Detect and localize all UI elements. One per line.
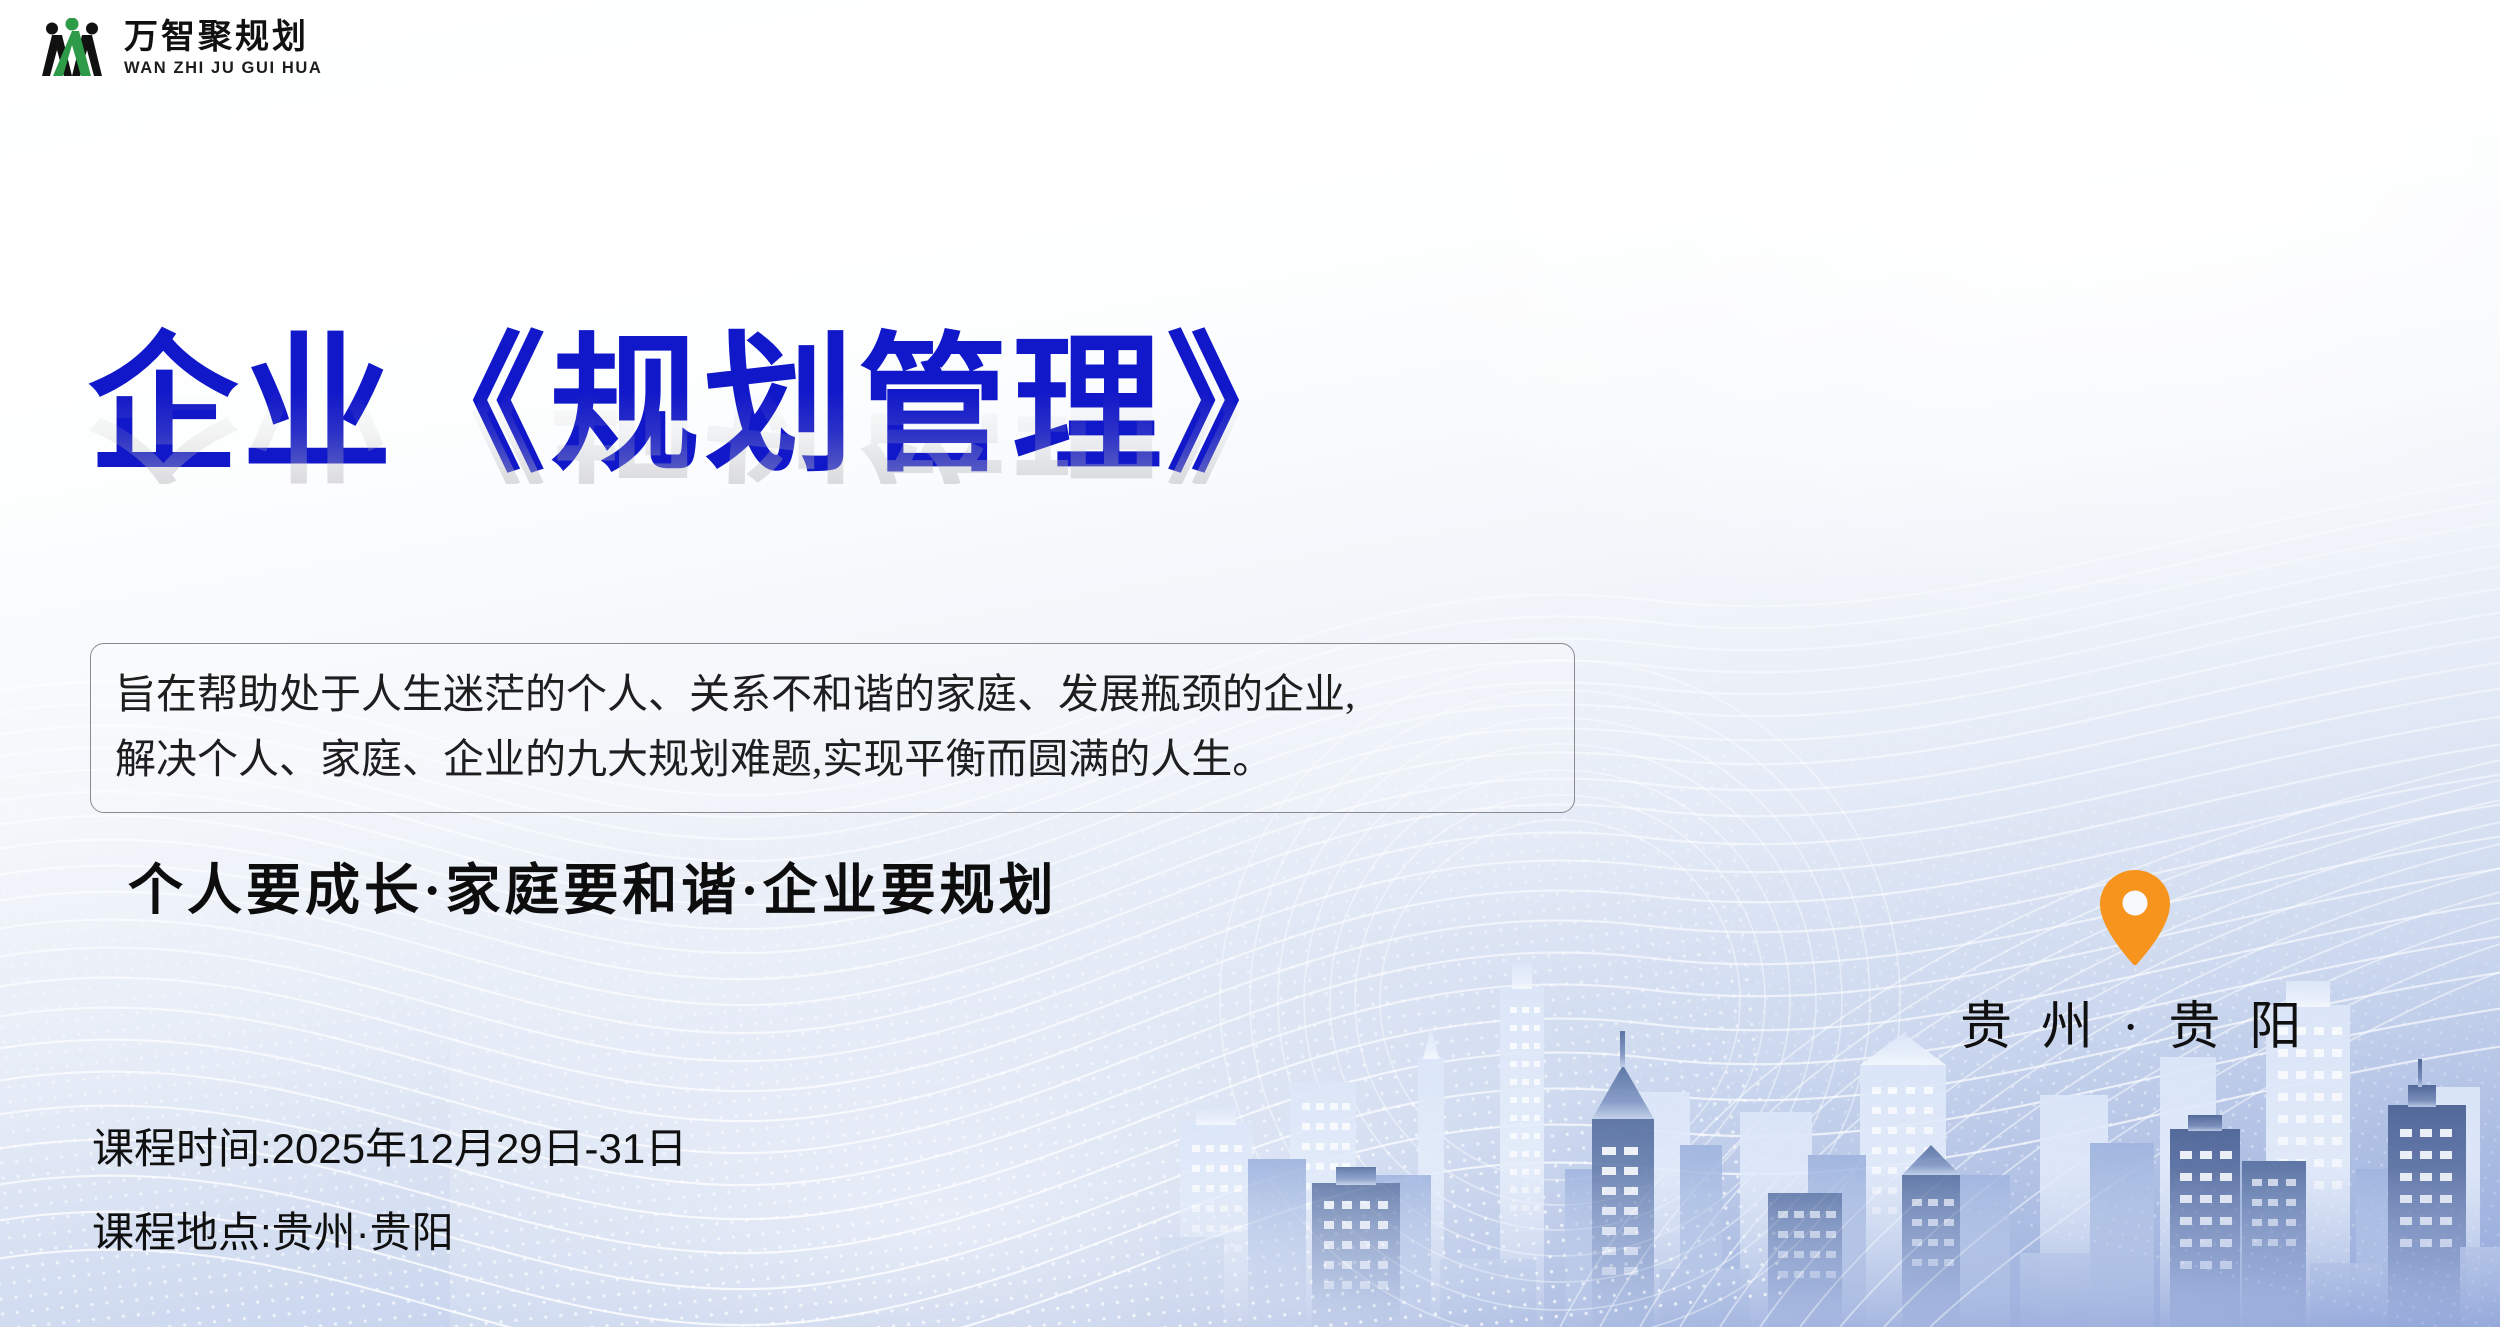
page-title-reflection: 企业《规划管理》 [88, 364, 1320, 484]
brand-name-en: WAN ZHI JU GUI HUA [124, 59, 322, 78]
brand-text: 万智聚规划 WAN ZHI JU GUI HUA [124, 20, 322, 78]
course-place-row: 课程地点:贵州·贵阳 [92, 1212, 687, 1254]
course-time-row: 课程时间:2025年12月29日-31日 [92, 1128, 687, 1170]
poster-canvas: 万智聚规划 WAN ZHI JU GUI HUA 企业《规划管理》 企业《规划管… [0, 0, 2500, 1327]
description-line-2: 解决个人、家庭、企业的九大规划难题,实现平衡而圆满的人生。 [115, 727, 1550, 792]
tagline: 个人要成长·家庭要和谐·企业要规划 [128, 845, 1058, 925]
location-label: 贵 州 · 贵 阳 [1960, 984, 2309, 1059]
three-people-logo-icon [36, 18, 108, 80]
brand-logo[interactable]: 万智聚规划 WAN ZHI JU GUI HUA [36, 18, 322, 80]
brand-name-cn: 万智聚规划 [124, 20, 322, 56]
map-pin-icon [2098, 870, 2172, 966]
location-block: 贵 州 · 贵 阳 [1960, 870, 2309, 1059]
course-info-block: 课程时间:2025年12月29日-31日 课程地点:贵州·贵阳 [92, 1128, 687, 1254]
description-box: 旨在帮助处于人生迷茫的个人、关系不和谐的家庭、发展瓶颈的企业, 解决个人、家庭、… [90, 643, 1575, 813]
top-right-glow [1250, 0, 2500, 690]
description-line-1: 旨在帮助处于人生迷茫的个人、关系不和谐的家庭、发展瓶颈的企业, [115, 662, 1550, 727]
hero-title-block: 企业《规划管理》 企业《规划管理》 [88, 330, 1320, 604]
